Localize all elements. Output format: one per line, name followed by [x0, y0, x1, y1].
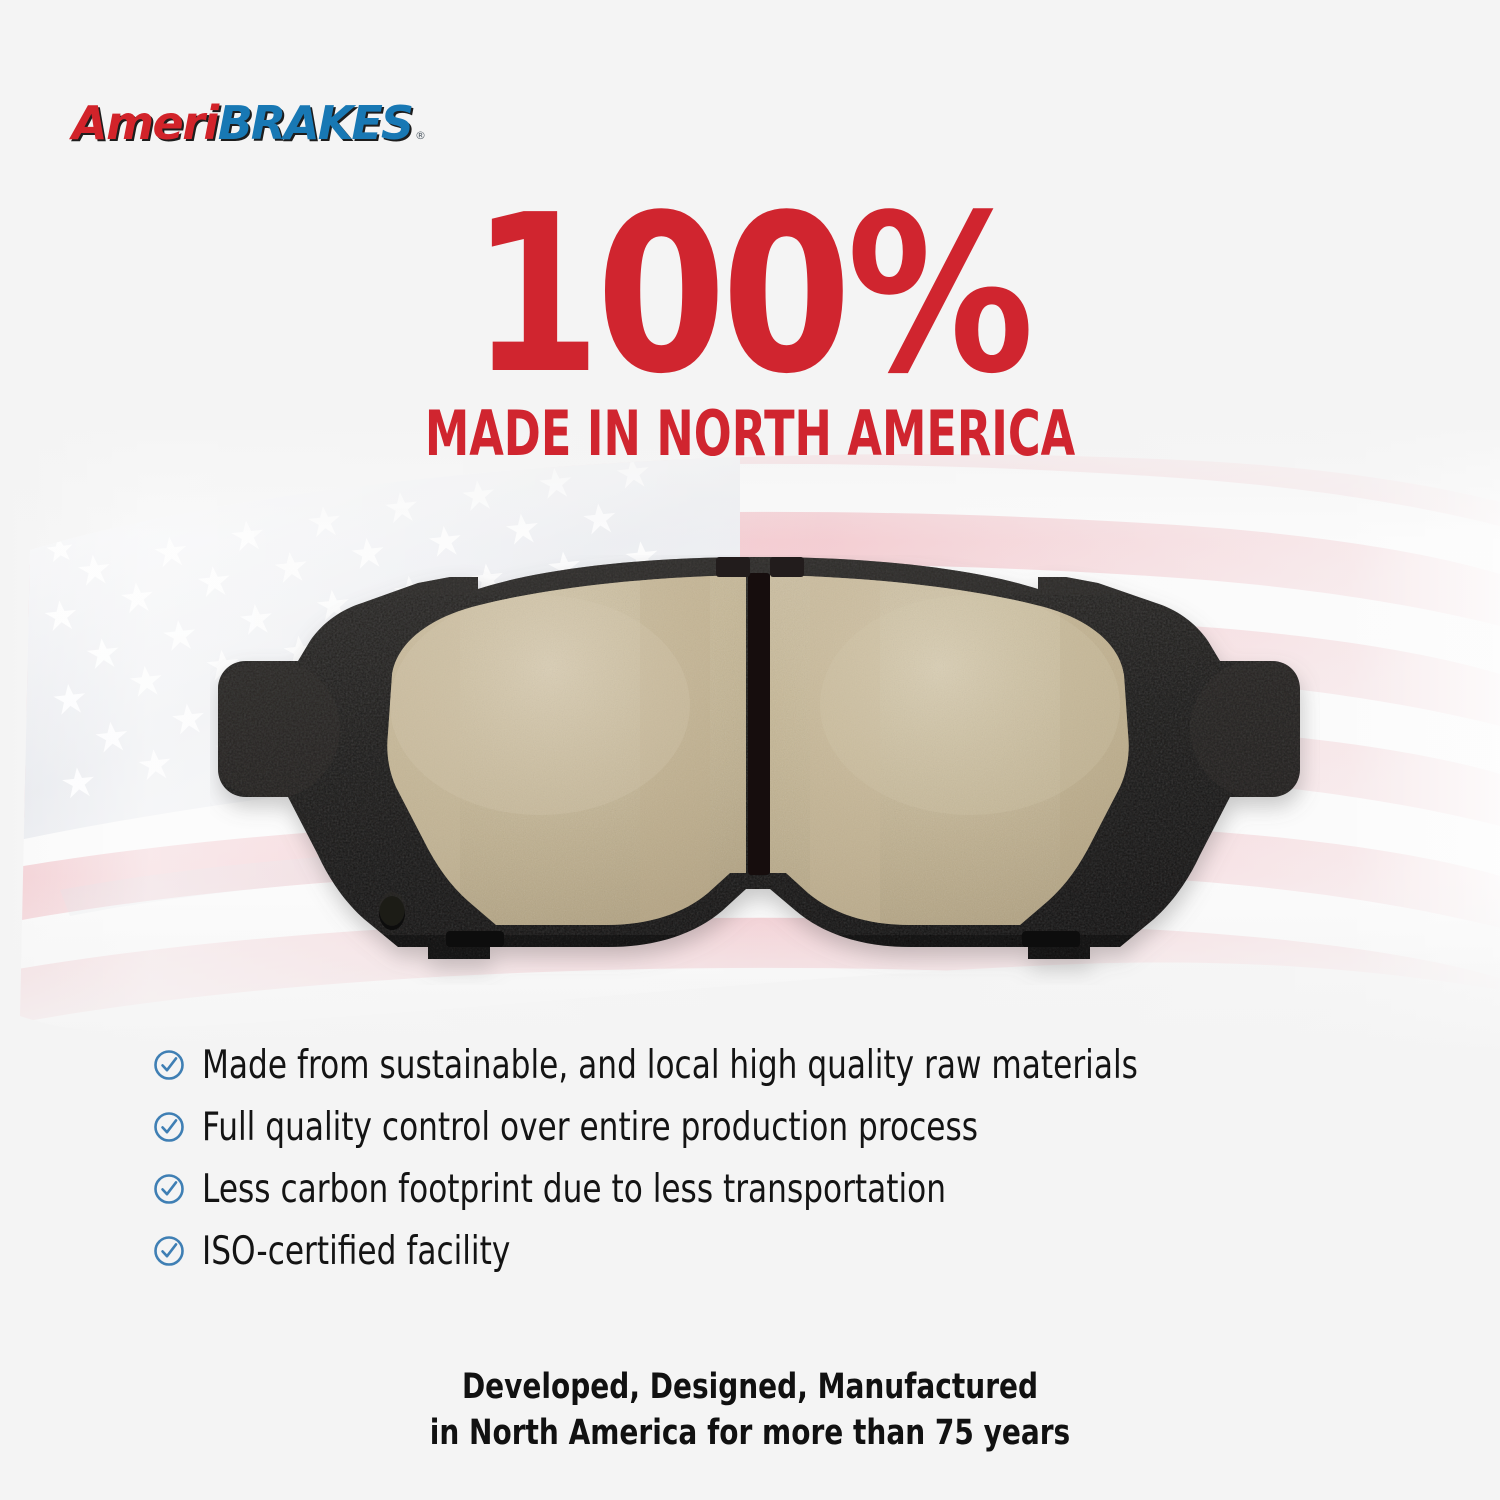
brake-pad-body: [210, 555, 1320, 985]
footer-line-2: in North America for more than 75 years: [150, 1411, 1350, 1457]
footer-block: Developed, Designed, Manufactured in Nor…: [0, 1365, 1500, 1456]
page-subtitle: MADE IN NORTH AMERICA: [210, 403, 1290, 465]
check-circle-icon: [152, 1110, 186, 1144]
footer-line-1: Developed, Designed, Manufactured: [150, 1365, 1350, 1411]
list-item-label: Less carbon footprint due to less transp…: [202, 1170, 946, 1209]
bottom-tab-left: [446, 931, 504, 947]
list-item-label: Made from sustainable, and local high qu…: [202, 1046, 1138, 1085]
list-item-label: ISO-certified facility: [202, 1232, 510, 1271]
list-item[interactable]: ISO-certified facility: [152, 1226, 1402, 1276]
registered-trademark-icon: ®: [415, 129, 426, 142]
brake-pad-image: [210, 555, 1320, 985]
brand-logo[interactable]: Ameri BRAKES ®: [72, 100, 426, 146]
top-tab-left: [716, 557, 750, 577]
check-circle-icon: [152, 1234, 186, 1268]
page-title-percent: 100%: [105, 196, 1395, 397]
promo-banner: Ameri BRAKES ® 100% MADE IN NORTH AMERIC…: [0, 0, 1500, 1500]
bottom-tab-right: [1022, 931, 1080, 947]
center-slot: [748, 573, 770, 875]
list-item-label: Full quality control over entire product…: [202, 1108, 978, 1147]
flag-stars: [46, 536, 75, 563]
logo-text-brakes: BRAKES: [218, 100, 412, 146]
list-item[interactable]: Full quality control over entire product…: [152, 1102, 1402, 1152]
check-circle-icon: [152, 1172, 186, 1206]
list-item[interactable]: Made from sustainable, and local high qu…: [152, 1040, 1402, 1090]
brake-pad-svg: [210, 555, 1320, 985]
logo-text-ameri: Ameri: [72, 100, 218, 146]
list-item[interactable]: Less carbon footprint due to less transp…: [152, 1164, 1402, 1214]
top-tab-right: [770, 557, 804, 577]
check-circle-icon: [152, 1048, 186, 1082]
headline-block: 100% MADE IN NORTH AMERICA: [0, 196, 1500, 465]
feature-list: Made from sustainable, and local high qu…: [152, 1040, 1402, 1288]
